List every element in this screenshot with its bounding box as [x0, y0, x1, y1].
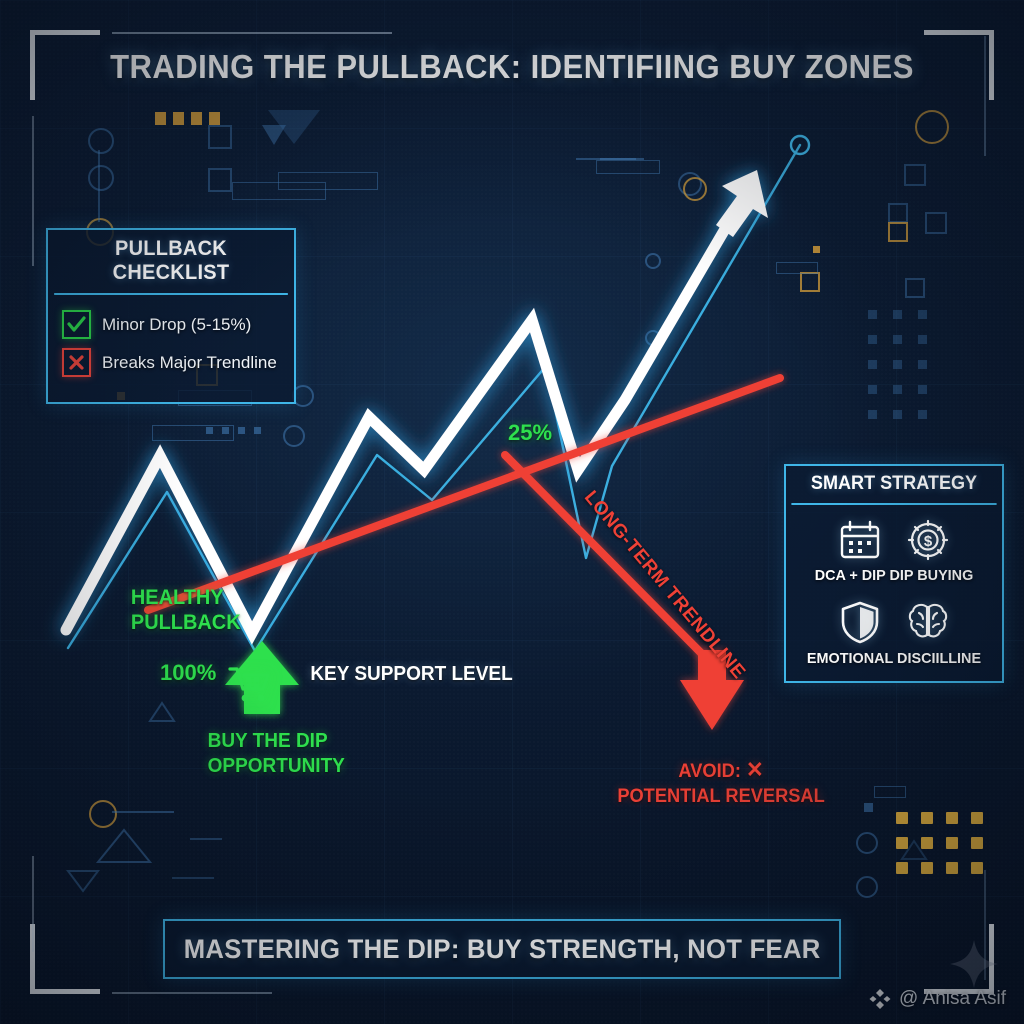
decor-line-left — [32, 116, 34, 266]
percent-100-label: 100% — [160, 660, 216, 686]
checklist-item-breaks-trendline[interactable]: Breaks Major Trendline — [62, 348, 294, 377]
calendar-icon — [839, 519, 881, 561]
check-icon — [62, 310, 91, 339]
infographic-canvas: TRADING THE PULLBACK: IDENTIFIING BUY ZO… — [0, 0, 1024, 1024]
checklist-item-minor-drop[interactable]: Minor Drop (5-15%) — [62, 310, 294, 339]
checklist-heading: PULLBACK CHECKLIST — [54, 230, 288, 295]
decor-triangle-up — [96, 826, 152, 866]
smart-strategy-panel: SMART STRATEGY — [784, 464, 1004, 683]
decor-dot-matrix — [868, 310, 927, 419]
avoid-line1-wrap: AVOID: ✕ — [617, 757, 824, 784]
avoid-reversal-annotation: AVOID: ✕ POTENTIAL REVERSAL — [617, 757, 824, 809]
brain-icon — [907, 600, 949, 644]
decor-circle-gold — [89, 800, 117, 828]
decor-line — [172, 877, 214, 879]
percent-25-label: 25% — [508, 420, 552, 446]
decor-circle-gold — [915, 110, 949, 144]
decor-square — [904, 164, 926, 186]
strategy-label-dca: DCA + DIP DIP BUYING — [798, 567, 990, 584]
banner-text: MASTERING THE DIP: BUY STRENGTH, NOT FEA… — [184, 934, 821, 965]
decor-circle — [856, 832, 878, 854]
decor-square-gold — [888, 222, 908, 242]
buy-the-dip-annotation: BUY THE DIP OPPORTUNITY — [208, 729, 345, 779]
decor-dot — [254, 427, 261, 434]
decor-dot-gold — [173, 112, 184, 125]
watermark: @ Anisa Asif — [869, 988, 1006, 1010]
decor-circle — [645, 330, 661, 346]
avoid-label: AVOID: — [678, 761, 740, 782]
decor-square — [208, 168, 232, 192]
healthy-pullback-annotation: HEALTHY PULLBACK — [131, 585, 241, 635]
strategy-body: $ DCA + DIP DIP BUYING — [786, 505, 1002, 681]
decor-circle — [88, 165, 114, 191]
checklist-item-label: Minor Drop (5-15%) — [102, 315, 251, 335]
decor-circle — [645, 253, 661, 269]
decor-circle — [856, 876, 878, 898]
page-title: TRADING THE PULLBACK: IDENTIFIING BUY ZO… — [31, 48, 994, 86]
decor-dot-gold — [813, 246, 820, 253]
gear-dollar-icon: $ — [907, 519, 949, 561]
decor-line-left-2 — [32, 856, 34, 952]
decor-square — [905, 278, 925, 298]
decor-triangle-down — [262, 125, 286, 145]
healthy-pullback-line2: PULLBACK — [131, 610, 241, 635]
buy-dip-line2: OPPORTUNITY — [208, 754, 345, 779]
decor-line-bottom — [112, 992, 272, 994]
strategy-label-discipline: EMOTIONAL DISCIILLINE — [798, 650, 990, 667]
decor-square — [208, 125, 232, 149]
decor-dot-gold — [191, 112, 202, 125]
checklist-items: Minor Drop (5-15%) Breaks Major Trendlin… — [48, 295, 294, 402]
decor-bar — [152, 425, 234, 441]
decor-circle — [88, 128, 114, 154]
decor-square-gold — [800, 272, 820, 292]
decor-triangle-up — [98, 830, 146, 862]
decor-line — [112, 811, 174, 813]
decor-dot — [222, 427, 229, 434]
healthy-pullback-line1: HEALTHY — [131, 585, 241, 610]
decor-connector — [98, 150, 100, 222]
breakout-arrowhead-icon — [716, 170, 768, 237]
decor-circle-gold — [683, 177, 707, 201]
decor-bar — [278, 172, 378, 190]
cross-icon — [62, 348, 91, 377]
decor-triangle-down — [268, 110, 320, 144]
decor-line — [600, 158, 644, 160]
shopping-cart-icon — [228, 665, 272, 710]
decor-line — [190, 838, 222, 840]
decor-circle — [283, 425, 305, 447]
corner-bracket-bottom-left — [30, 924, 100, 994]
sparkle-decoration-icon — [948, 938, 1000, 990]
pullback-checklist-panel: PULLBACK CHECKLIST Minor Drop (5-15%) B — [46, 228, 296, 404]
svg-text:$: $ — [924, 533, 933, 550]
reversal-trendline — [505, 455, 710, 662]
decor-triangle-down — [66, 868, 100, 894]
key-support-label: KEY SUPPORT LEVEL — [310, 663, 512, 686]
decor-dot — [864, 803, 873, 812]
avoid-x-icon: ✕ — [746, 757, 764, 782]
decor-gold-dot-grid — [896, 812, 983, 874]
strategy-heading: SMART STRATEGY — [791, 466, 996, 505]
long-term-trendline-label: LONG-TERM TRENDLINE — [579, 487, 749, 684]
diamond-logo-icon — [869, 988, 891, 1010]
decor-dot-gold — [155, 112, 166, 125]
decor-dot — [206, 427, 213, 434]
decor-line — [576, 158, 636, 160]
decor-square — [888, 203, 908, 223]
decor-bar — [596, 160, 660, 174]
decor-line-top — [112, 32, 392, 34]
strategy-icon-row-discipline — [794, 600, 994, 644]
bottom-banner: MASTERING THE DIP: BUY STRENGTH, NOT FEA… — [163, 919, 841, 979]
decor-triangle-up-small — [148, 700, 176, 724]
long-term-trendline — [148, 378, 780, 610]
watermark-handle: @ Anisa Asif — [899, 988, 1006, 1010]
decor-circle — [678, 172, 702, 196]
decor-square — [925, 212, 947, 234]
decor-bar — [232, 182, 326, 200]
buy-dip-line1: BUY THE DIP — [208, 729, 345, 754]
decor-dot — [238, 427, 245, 434]
decor-bar — [874, 786, 906, 798]
strategy-icon-row-dca: $ — [794, 519, 994, 561]
decor-dot-gold — [209, 112, 220, 125]
avoid-line2: POTENTIAL REVERSAL — [617, 784, 824, 809]
checklist-item-label: Breaks Major Trendline — [102, 353, 277, 373]
shield-icon — [839, 600, 881, 644]
decor-triangle-up-small — [900, 838, 928, 862]
decor-bar — [776, 262, 818, 274]
